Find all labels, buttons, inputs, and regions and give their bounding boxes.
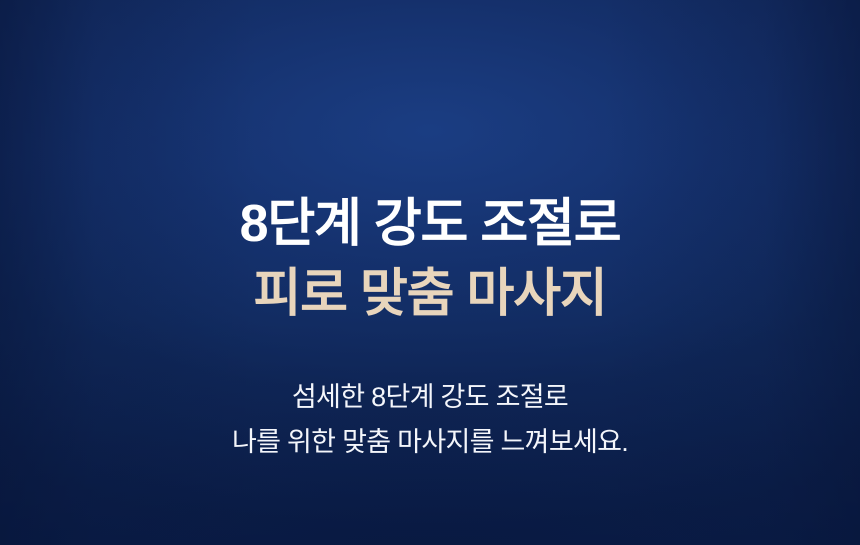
hero-subcopy-line-2: 나를 위한 맞춤 마사지를 느껴보세요. <box>232 420 628 465</box>
hero-content: 8단계 강도 조절로 피로 맞춤 마사지 섬세한 8단계 강도 조절로 나를 위… <box>0 0 860 545</box>
hero-subcopy: 섬세한 8단계 강도 조절로 나를 위한 맞춤 마사지를 느껴보세요. <box>232 375 628 465</box>
hero-headline: 8단계 강도 조절로 피로 맞춤 마사지 <box>240 0 621 329</box>
hero-headline-line-2: 피로 맞춤 마사지 <box>240 260 621 330</box>
promo-hero-banner: 8단계 강도 조절로 피로 맞춤 마사지 섬세한 8단계 강도 조절로 나를 위… <box>0 0 860 545</box>
hero-subcopy-line-1: 섬세한 8단계 강도 조절로 <box>232 375 628 420</box>
hero-headline-line-1: 8단계 강도 조절로 <box>240 190 621 260</box>
